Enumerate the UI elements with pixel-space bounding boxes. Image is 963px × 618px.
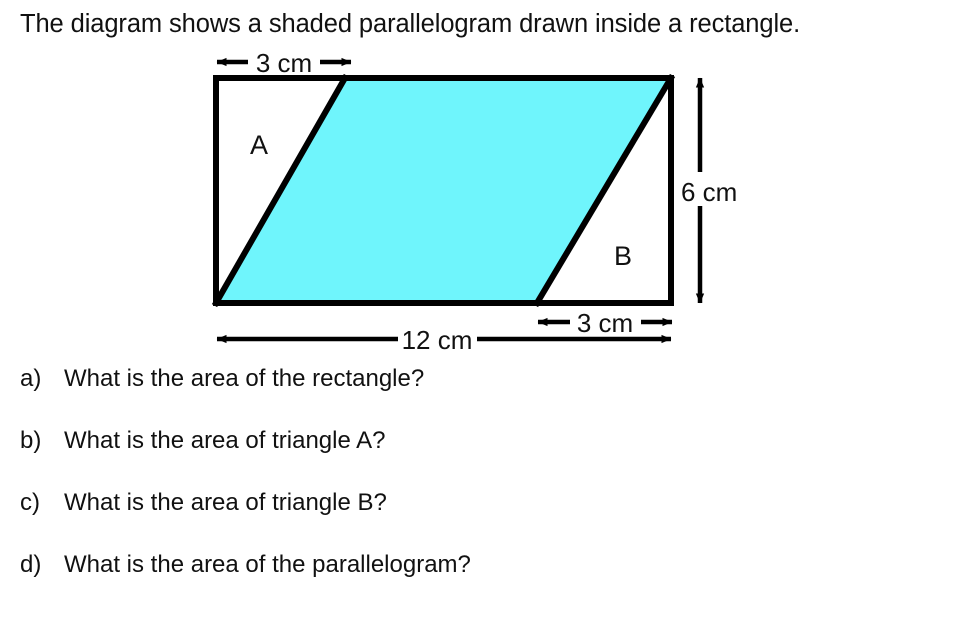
geometry-figure: A B 3 cm 6 cm 3 cm 12 cm	[0, 0, 963, 370]
question-item-d: d)What is the area of the parallelogram?	[20, 550, 471, 580]
question-marker-c: c)	[20, 488, 64, 518]
question-item-a: a)What is the area of the rectangle?	[20, 364, 424, 394]
question-text-c: What is the area of triangle B?	[64, 488, 387, 518]
base-label: 12 cm	[402, 325, 473, 355]
question-text-d: What is the area of the parallelogram?	[64, 550, 471, 580]
question-item-c: c)What is the area of triangle B?	[20, 488, 387, 518]
triangle-b-label: B	[614, 241, 632, 271]
worksheet-page: The diagram shows a shaded parallelogram…	[0, 0, 963, 618]
question-marker-a: a)	[20, 364, 64, 394]
top-offset-label: 3 cm	[256, 48, 312, 78]
question-text-b: What is the area of triangle A?	[64, 426, 386, 456]
bottom-offset-label: 3 cm	[577, 308, 633, 338]
question-item-b: b)What is the area of triangle A?	[20, 426, 386, 456]
question-marker-b: b)	[20, 426, 64, 456]
question-marker-d: d)	[20, 550, 64, 580]
height-label: 6 cm	[681, 177, 737, 207]
question-text-a: What is the area of the rectangle?	[64, 364, 424, 394]
triangle-a-label: A	[250, 130, 268, 160]
